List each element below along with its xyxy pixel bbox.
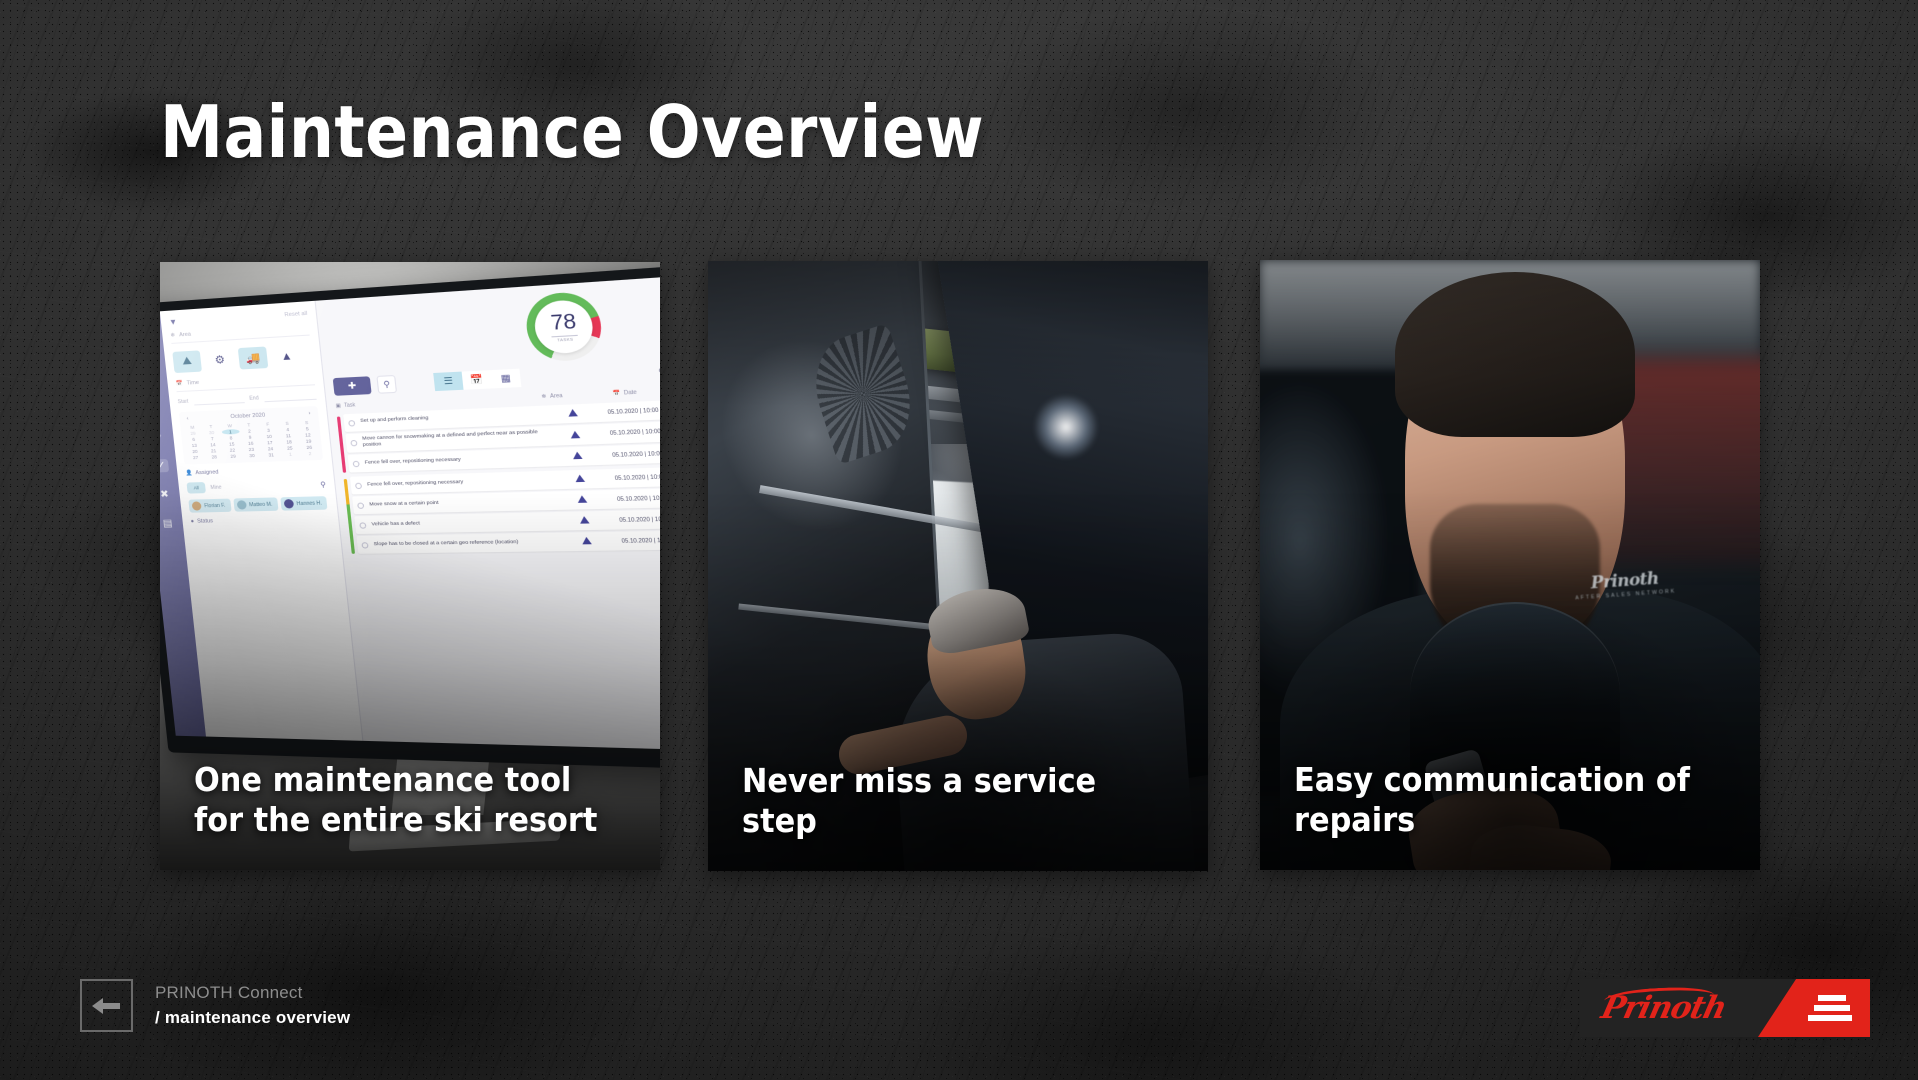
calendar-day[interactable]: 11 bbox=[279, 432, 298, 438]
cell-date: 05.10.2020 | 10:00 bbox=[619, 515, 660, 524]
assigned-person-name: Florian F. bbox=[204, 502, 226, 509]
breadcrumb-current: / maintenance overview bbox=[155, 1006, 350, 1031]
column-label-date: Date bbox=[624, 389, 638, 396]
assigned-toggle-row[interactable]: All Mine ⚲ bbox=[186, 478, 326, 493]
export-area[interactable]: Create Documentation (csv.) X Export bbox=[658, 355, 660, 378]
calendar-day[interactable]: 10 bbox=[260, 433, 279, 439]
add-task-button[interactable]: ✚ bbox=[333, 376, 372, 396]
status-section-label: ● Status bbox=[190, 515, 329, 524]
cell-area-icon: ⛰ bbox=[543, 427, 608, 441]
calendar-view-icon[interactable]: 📅 bbox=[462, 370, 493, 390]
area-chip-group[interactable]: ⛰ ⚙ 🚚 ▲ bbox=[172, 341, 313, 374]
calendar-day[interactable]: 12 bbox=[298, 432, 317, 438]
cell-date: 05.10.2020 | 10:00 bbox=[621, 536, 660, 544]
calendar-day[interactable]: 26 bbox=[300, 444, 319, 450]
column-header-date: 📅 Date bbox=[612, 385, 660, 397]
calendar-day[interactable]: 30 bbox=[203, 429, 221, 435]
cell-date: 05.10.2020 | 10:00 bbox=[610, 426, 660, 436]
calendar-day[interactable]: 27 bbox=[187, 454, 205, 460]
feature-card-service-step[interactable]: Never miss a service step bbox=[708, 261, 1208, 871]
calendar-day[interactable]: 17 bbox=[261, 439, 280, 445]
chip-vehicle-icon[interactable]: 🚚 bbox=[238, 346, 269, 369]
search-icon[interactable]: ⚲ bbox=[320, 480, 326, 488]
area-icon: ❄ bbox=[170, 332, 175, 338]
calendar-day[interactable]: 1 bbox=[281, 451, 300, 457]
feature-card-communication[interactable]: Prinoth AFTER SALES NETWORK Easy communi… bbox=[1260, 260, 1760, 870]
filter-panel-header: ▼ Reset all bbox=[169, 308, 308, 326]
cell-task: Vehicle has a defect bbox=[371, 518, 550, 528]
reset-all-link[interactable]: Reset all bbox=[284, 310, 307, 318]
cell-task: Fence fell over, repositioning necessary bbox=[367, 477, 546, 488]
calendar-icon: 📅 bbox=[175, 380, 183, 386]
breadcrumb: PRINOTH Connect / maintenance overview bbox=[155, 981, 350, 1030]
breadcrumb-parent[interactable]: PRINOTH Connect bbox=[155, 981, 350, 1006]
cell-task: Fence fell over, repositioning necessary bbox=[365, 454, 544, 466]
tasks-gauge-value: 78 bbox=[550, 311, 577, 333]
cell-date: 05.10.2020 | 10:00 bbox=[617, 493, 660, 502]
calendar-weekday: S bbox=[278, 420, 297, 426]
assigned-people-chips[interactable]: Florian F.Matteo M.Hannes H. bbox=[188, 496, 328, 513]
calendar-weekday: M bbox=[183, 424, 201, 430]
calendar-weekday: W bbox=[221, 422, 239, 428]
calendar-day[interactable]: 3 bbox=[259, 427, 278, 433]
cell-task: Slope has to be closed at a certain geo … bbox=[373, 539, 553, 548]
row-checkbox[interactable] bbox=[355, 482, 362, 488]
calendar-month-label: October 2020 bbox=[230, 412, 265, 420]
calendar-day[interactable]: 25 bbox=[280, 445, 299, 451]
calendar-widget[interactable]: ‹ October 2020 › MTWTFSS2930123456789101… bbox=[179, 406, 323, 464]
filter-area-row[interactable]: ❄ Area bbox=[170, 324, 309, 344]
row-checkbox[interactable] bbox=[361, 541, 368, 547]
drink-icon[interactable]: ♢ bbox=[160, 430, 166, 444]
date-end-field[interactable] bbox=[263, 391, 316, 402]
chip-cannon-icon[interactable]: ⚙ bbox=[205, 348, 235, 371]
cell-date: 05.10.2020 | 10:00 bbox=[607, 404, 660, 415]
cell-area-icon: ⛰ bbox=[554, 535, 620, 548]
calendar-day[interactable]: 29 bbox=[224, 453, 242, 459]
create-documentation-label: Create Documentation (csv.) bbox=[659, 363, 660, 374]
calendar-weekday: T bbox=[239, 422, 258, 428]
calendar-day[interactable]: 31 bbox=[262, 452, 281, 458]
assigned-mine-chip[interactable]: Mine bbox=[210, 484, 222, 490]
toolbar-search-icon[interactable]: ⚲ bbox=[376, 375, 397, 394]
cell-date: 05.10.2020 | 10:00 bbox=[614, 472, 660, 481]
chip-slope-icon[interactable]: ▲ bbox=[271, 344, 302, 367]
row-checkbox[interactable] bbox=[359, 522, 366, 528]
page-title: Maintenance Overview bbox=[160, 96, 984, 168]
filter-time-label: Time bbox=[186, 379, 199, 386]
cell-area-icon: ⛰ bbox=[550, 493, 615, 507]
calendar-day[interactable]: 16 bbox=[241, 440, 260, 446]
calendar-next-icon[interactable]: › bbox=[308, 410, 311, 416]
card-caption: One maintenance tool for the entire ski … bbox=[194, 760, 601, 841]
monitor-screen: skadii ⌂ ⚘ ☁ ♢ ✓ ✖ ▤ ▼ Reset all bbox=[160, 262, 660, 774]
tasks-icon[interactable]: ✓ bbox=[160, 459, 169, 472]
calendar-day[interactable]: 23 bbox=[242, 446, 261, 452]
maintenance-app-ui: skadii ⌂ ⚘ ☁ ♢ ✓ ✖ ▤ ▼ Reset all bbox=[160, 267, 660, 754]
list-view-icon[interactable]: ☰ bbox=[433, 371, 463, 391]
arrow-left-icon bbox=[92, 996, 122, 1016]
snowflake-icon: ❄ bbox=[541, 393, 547, 400]
task-group: Fence fell over, repositioning necessary… bbox=[343, 463, 660, 556]
column-label-area: Area bbox=[550, 392, 563, 399]
tasks-gauge-label: TASKS bbox=[557, 336, 574, 341]
calendar-weekday: F bbox=[259, 421, 278, 427]
calendar-day[interactable]: 4 bbox=[278, 426, 297, 432]
calendar-prev-icon[interactable]: ‹ bbox=[186, 415, 189, 421]
calendar-grid[interactable]: MTWTFSS293012345678910111213141516171819… bbox=[183, 419, 319, 460]
cloud-icon[interactable]: ☁ bbox=[160, 401, 162, 415]
calendar-day[interactable]: 20 bbox=[186, 448, 204, 454]
date-column-icon: 📅 bbox=[612, 390, 620, 397]
prinoth-logo: Prinoth bbox=[1580, 979, 1870, 1037]
chip-lift-icon[interactable]: ⛰ bbox=[172, 350, 202, 373]
back-button[interactable] bbox=[80, 979, 133, 1032]
calendar-day[interactable]: 5 bbox=[298, 425, 317, 431]
calendar-day[interactable]: 29 bbox=[184, 430, 202, 436]
date-range-row[interactable]: Start End bbox=[177, 391, 316, 406]
cell-area-icon: ⛰ bbox=[548, 472, 613, 486]
status-dot-icon: ● bbox=[190, 518, 194, 524]
slide-root: Maintenance Overview skadii ⌂ ⚘ ☁ ♢ ✓ ✖ bbox=[0, 0, 1918, 1080]
task-icon: ▣ bbox=[335, 402, 341, 408]
feature-card-maintenance-tool[interactable]: skadii ⌂ ⚘ ☁ ♢ ✓ ✖ ▤ ▼ Reset all bbox=[160, 262, 660, 870]
footer-navigation: PRINOTH Connect / maintenance overview bbox=[80, 979, 350, 1032]
cell-date: 05.10.2020 | 10:00 bbox=[612, 448, 660, 458]
date-end-label: End bbox=[249, 395, 259, 402]
calendar-weekday: S bbox=[297, 419, 316, 425]
assigned-person-chip[interactable]: Matteo M. bbox=[233, 497, 278, 511]
filter-icon: ▼ bbox=[169, 317, 178, 327]
board-view-icon[interactable]: ▦ bbox=[490, 368, 521, 388]
row-checkbox[interactable] bbox=[357, 502, 364, 508]
cell-area-icon: ⛰ bbox=[540, 406, 605, 421]
reports-icon[interactable]: ▤ bbox=[161, 517, 175, 530]
filter-time-row[interactable]: 📅 Time bbox=[175, 373, 315, 391]
card-caption: Never miss a service step bbox=[742, 761, 1149, 842]
calendar-day[interactable]: 21 bbox=[204, 448, 222, 454]
assigned-person-chip[interactable]: Hannes H. bbox=[280, 496, 328, 511]
view-switcher[interactable]: ☰ 📅 ▦ bbox=[433, 368, 521, 390]
cell-task: Set up and perform cleaning bbox=[360, 411, 539, 425]
card-caption: Easy communication of repairs bbox=[1294, 760, 1701, 841]
assigned-section-label: 👤 Assigned bbox=[185, 466, 324, 476]
calendar-day[interactable]: 6 bbox=[185, 436, 203, 442]
task-table-body[interactable]: Set up and perform cleaning⛰05.10.2020 |… bbox=[337, 394, 660, 556]
settings-icon[interactable]: ✖ bbox=[160, 488, 172, 501]
calendar-day[interactable]: 13 bbox=[185, 442, 203, 448]
assigned-all-chip[interactable]: All bbox=[186, 482, 205, 494]
cell-task: Move cannon for snowmaking at a defined … bbox=[362, 429, 542, 449]
app-header: 78 TASKS Skiresort ABC Florian bbox=[325, 276, 660, 373]
assigned-label: Assigned bbox=[195, 469, 219, 476]
avatar bbox=[192, 501, 202, 510]
cell-task: Move snow at a certain point bbox=[369, 497, 548, 508]
row-checkbox[interactable] bbox=[348, 419, 355, 426]
calendar-day[interactable]: 19 bbox=[299, 438, 318, 444]
cell-area-icon: ⛰ bbox=[545, 449, 610, 463]
calendar-day[interactable]: 24 bbox=[261, 445, 280, 451]
date-start-label: Start bbox=[177, 398, 188, 405]
assigned-person-name: Matteo M. bbox=[249, 501, 273, 508]
calendar-day[interactable]: 28 bbox=[205, 454, 223, 460]
column-header-area: ❄ Area bbox=[541, 390, 613, 400]
calendar-day[interactable]: 8 bbox=[222, 435, 240, 441]
assigned-person-name: Hannes H. bbox=[296, 499, 322, 506]
calendar-weekday: T bbox=[202, 423, 220, 429]
assigned-person-chip[interactable]: Florian F. bbox=[188, 498, 231, 512]
logo-bars-icon bbox=[1808, 995, 1852, 1021]
row-checkbox[interactable] bbox=[350, 440, 357, 446]
calendar-day[interactable]: 2 bbox=[240, 428, 259, 434]
calendar-day[interactable]: 22 bbox=[223, 447, 241, 453]
app-main-area: 78 TASKS Skiresort ABC Florian bbox=[316, 267, 660, 754]
calendar-day[interactable]: 7 bbox=[203, 435, 221, 441]
status-label: Status bbox=[197, 518, 214, 524]
calendar-day[interactable]: 18 bbox=[280, 439, 299, 445]
calendar-day[interactable]: 14 bbox=[204, 441, 222, 447]
calendar-day[interactable]: 9 bbox=[241, 434, 260, 440]
calendar-day[interactable]: 2 bbox=[300, 450, 319, 456]
filter-area-label: Area bbox=[179, 331, 191, 338]
avatar bbox=[283, 499, 294, 508]
row-checkbox[interactable] bbox=[353, 460, 360, 466]
user-icon: 👤 bbox=[185, 470, 193, 476]
logo-wordmark: Prinoth bbox=[1598, 990, 1729, 1026]
avatar bbox=[236, 500, 246, 509]
calendar-day[interactable]: 15 bbox=[223, 441, 241, 447]
calendar-day[interactable]: 30 bbox=[243, 452, 262, 458]
calendar-day[interactable]: 1 bbox=[221, 429, 239, 435]
tasks-gauge: 78 TASKS bbox=[524, 290, 605, 362]
date-start-field[interactable] bbox=[193, 395, 245, 406]
column-label-task: Task bbox=[344, 402, 356, 409]
cell-area-icon: ⛰ bbox=[552, 514, 617, 527]
